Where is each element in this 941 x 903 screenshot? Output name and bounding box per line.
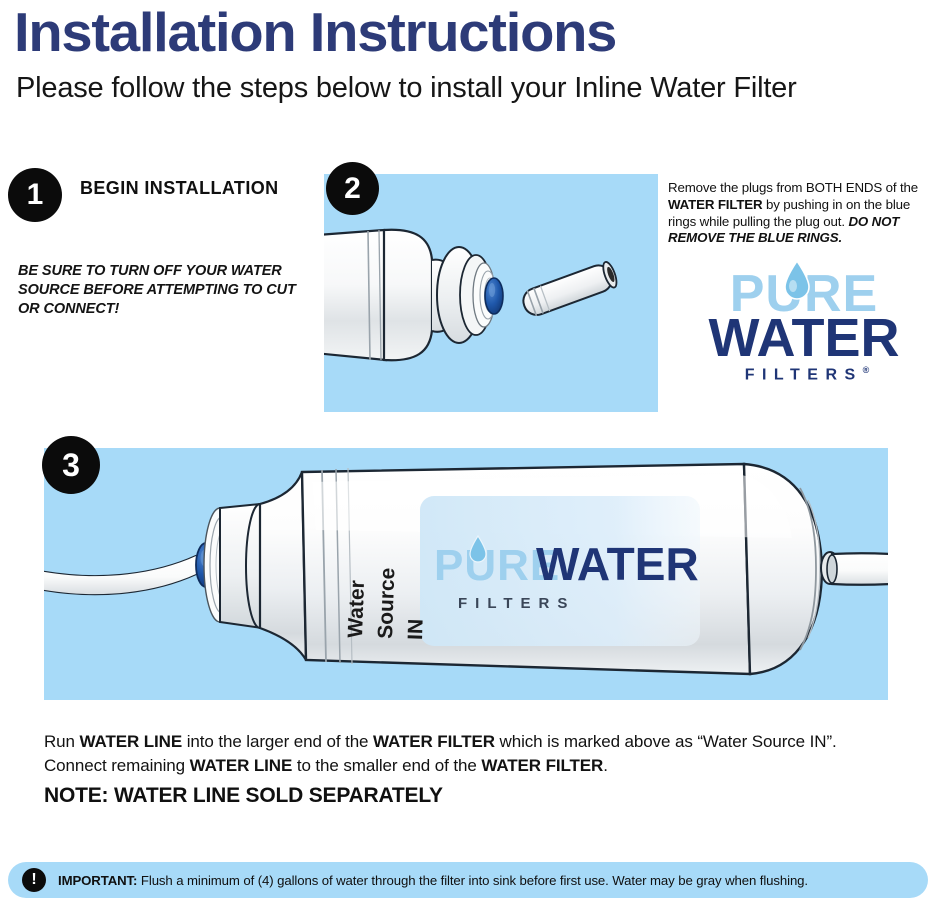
step-2-text-part-1: Remove the plugs from BOTH ENDS of the xyxy=(668,180,918,195)
page-subtitle: Please follow the steps below to install… xyxy=(16,72,797,105)
important-notice-text: IMPORTANT: Flush a minimum of (4) gallon… xyxy=(58,873,808,888)
step-3-text-part-1: Run xyxy=(44,732,80,751)
step-3-text-part-4: to the smaller end of the xyxy=(292,756,481,775)
important-label: IMPORTANT: xyxy=(58,873,137,888)
svg-text:IN: IN xyxy=(404,618,428,640)
step-3-note-text: NOTE: WATER LINE SOLD SEPARATELY xyxy=(44,784,443,808)
svg-text:WATER: WATER xyxy=(536,538,699,590)
step-3-bold-water-filter-1: WATER FILTER xyxy=(373,732,495,751)
svg-text:Water: Water xyxy=(344,580,369,638)
logo-filters-text: FILTERS® xyxy=(686,365,922,384)
svg-text:FILTERS: FILTERS xyxy=(458,595,575,612)
step-3-bold-water-line-1: WATER LINE xyxy=(80,732,183,751)
step-2-instruction-text: Remove the plugs from BOTH ENDS of the W… xyxy=(668,180,936,247)
water-droplet-icon xyxy=(782,260,812,302)
step-3-instruction-text: Run WATER LINE into the larger end of th… xyxy=(44,730,884,778)
step-2-text-bold-water-filter: WATER FILTER xyxy=(668,197,762,212)
purewater-filters-logo: PURE WATER FILTERS® xyxy=(686,272,922,385)
step-3-text-part-5: . xyxy=(603,756,608,775)
step-badge-2: 2 xyxy=(326,162,379,215)
filter-waterline-connection-illustration: PURE WATER FILTERS Water Source IN xyxy=(44,448,888,700)
step-3-illustration-panel: PURE WATER FILTERS Water Source IN xyxy=(44,448,888,700)
page-title: Installation Instructions xyxy=(14,4,616,62)
logo-filters-word: FILTERS xyxy=(745,367,863,384)
filter-plug-removal-illustration xyxy=(324,174,658,412)
step-3-bold-water-filter-2: WATER FILTER xyxy=(481,756,603,775)
svg-text:Source: Source xyxy=(374,567,399,639)
alert-exclamation-icon: ! xyxy=(22,868,46,892)
step-badge-1: 1 xyxy=(8,168,62,222)
step-1-heading: BEGIN INSTALLATION xyxy=(80,178,279,199)
step-badge-3: 3 xyxy=(42,436,100,494)
important-notice-banner: ! IMPORTANT: Flush a minimum of (4) gall… xyxy=(8,862,928,898)
step-1-warning-text: BE SURE TO TURN OFF YOUR WATER SOURCE BE… xyxy=(18,262,308,319)
important-message: Flush a minimum of (4) gallons of water … xyxy=(137,873,808,888)
logo-registered-mark: ® xyxy=(863,365,870,375)
step-3-text-part-2: into the larger end of the xyxy=(182,732,373,751)
step-2-illustration-panel xyxy=(324,174,658,412)
step-3-bold-water-line-2: WATER LINE xyxy=(190,756,293,775)
